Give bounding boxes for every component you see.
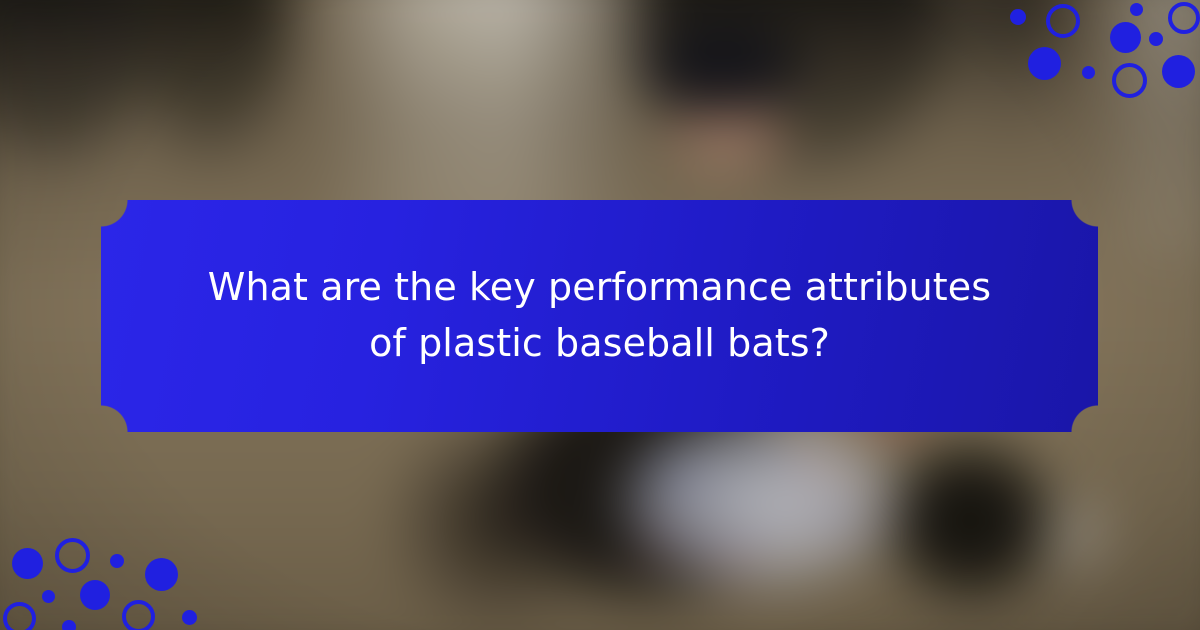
question-card: What are the key performance attributes … (101, 200, 1098, 432)
og-image-canvas: What are the key performance attributes … (0, 0, 1200, 630)
question-text: What are the key performance attributes … (200, 260, 1000, 372)
